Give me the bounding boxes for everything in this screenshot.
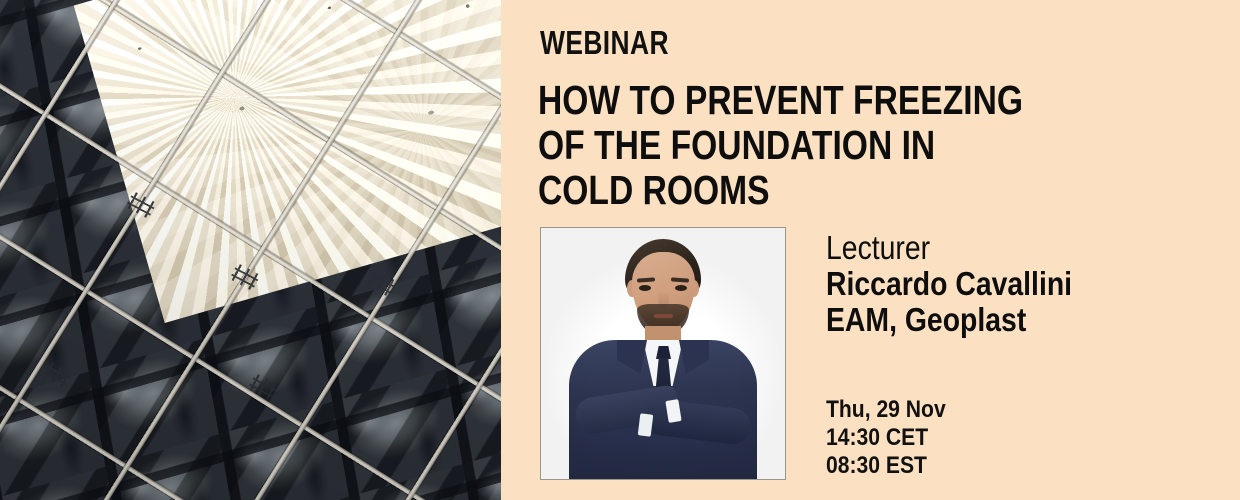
construction-photo [0, 0, 501, 500]
speaker-role-label: Lecturer [826, 230, 1072, 266]
eye-left-shape [639, 285, 651, 291]
eye-right-shape [675, 285, 687, 291]
schedule-time-est: 08:30 EST [826, 452, 946, 480]
headline-line-2: OF THE FOUNDATION IN [538, 123, 1023, 168]
schedule-block: Thu, 29 Nov 14:30 CET 08:30 EST [826, 396, 946, 480]
webinar-banner: WEBINAR HOW TO PREVENT FREEZING OF THE F… [0, 0, 1240, 500]
cuff-right-shape [638, 413, 654, 436]
schedule-time-cet: 14:30 CET [826, 424, 946, 452]
headline-line-1: HOW TO PREVENT FREEZING [538, 78, 1023, 123]
rebar-mesh [0, 0, 501, 500]
mouth-shape [654, 314, 673, 318]
speaker-name: Riccardo Cavallini [826, 266, 1072, 302]
eyebrow-label: WEBINAR [540, 26, 669, 60]
headline-line-3: COLD ROOMS [538, 168, 1023, 213]
avatar [541, 228, 785, 479]
speaker-photo [540, 227, 786, 480]
speaker-details: Lecturer Riccardo Cavallini EAM, Geoplas… [826, 230, 1072, 338]
page-title: HOW TO PREVENT FREEZING OF THE FOUNDATIO… [538, 78, 1023, 213]
content-panel: WEBINAR HOW TO PREVENT FREEZING OF THE F… [501, 0, 1240, 500]
schedule-date: Thu, 29 Nov [826, 396, 946, 424]
speaker-title: EAM, Geoplast [826, 302, 1072, 338]
